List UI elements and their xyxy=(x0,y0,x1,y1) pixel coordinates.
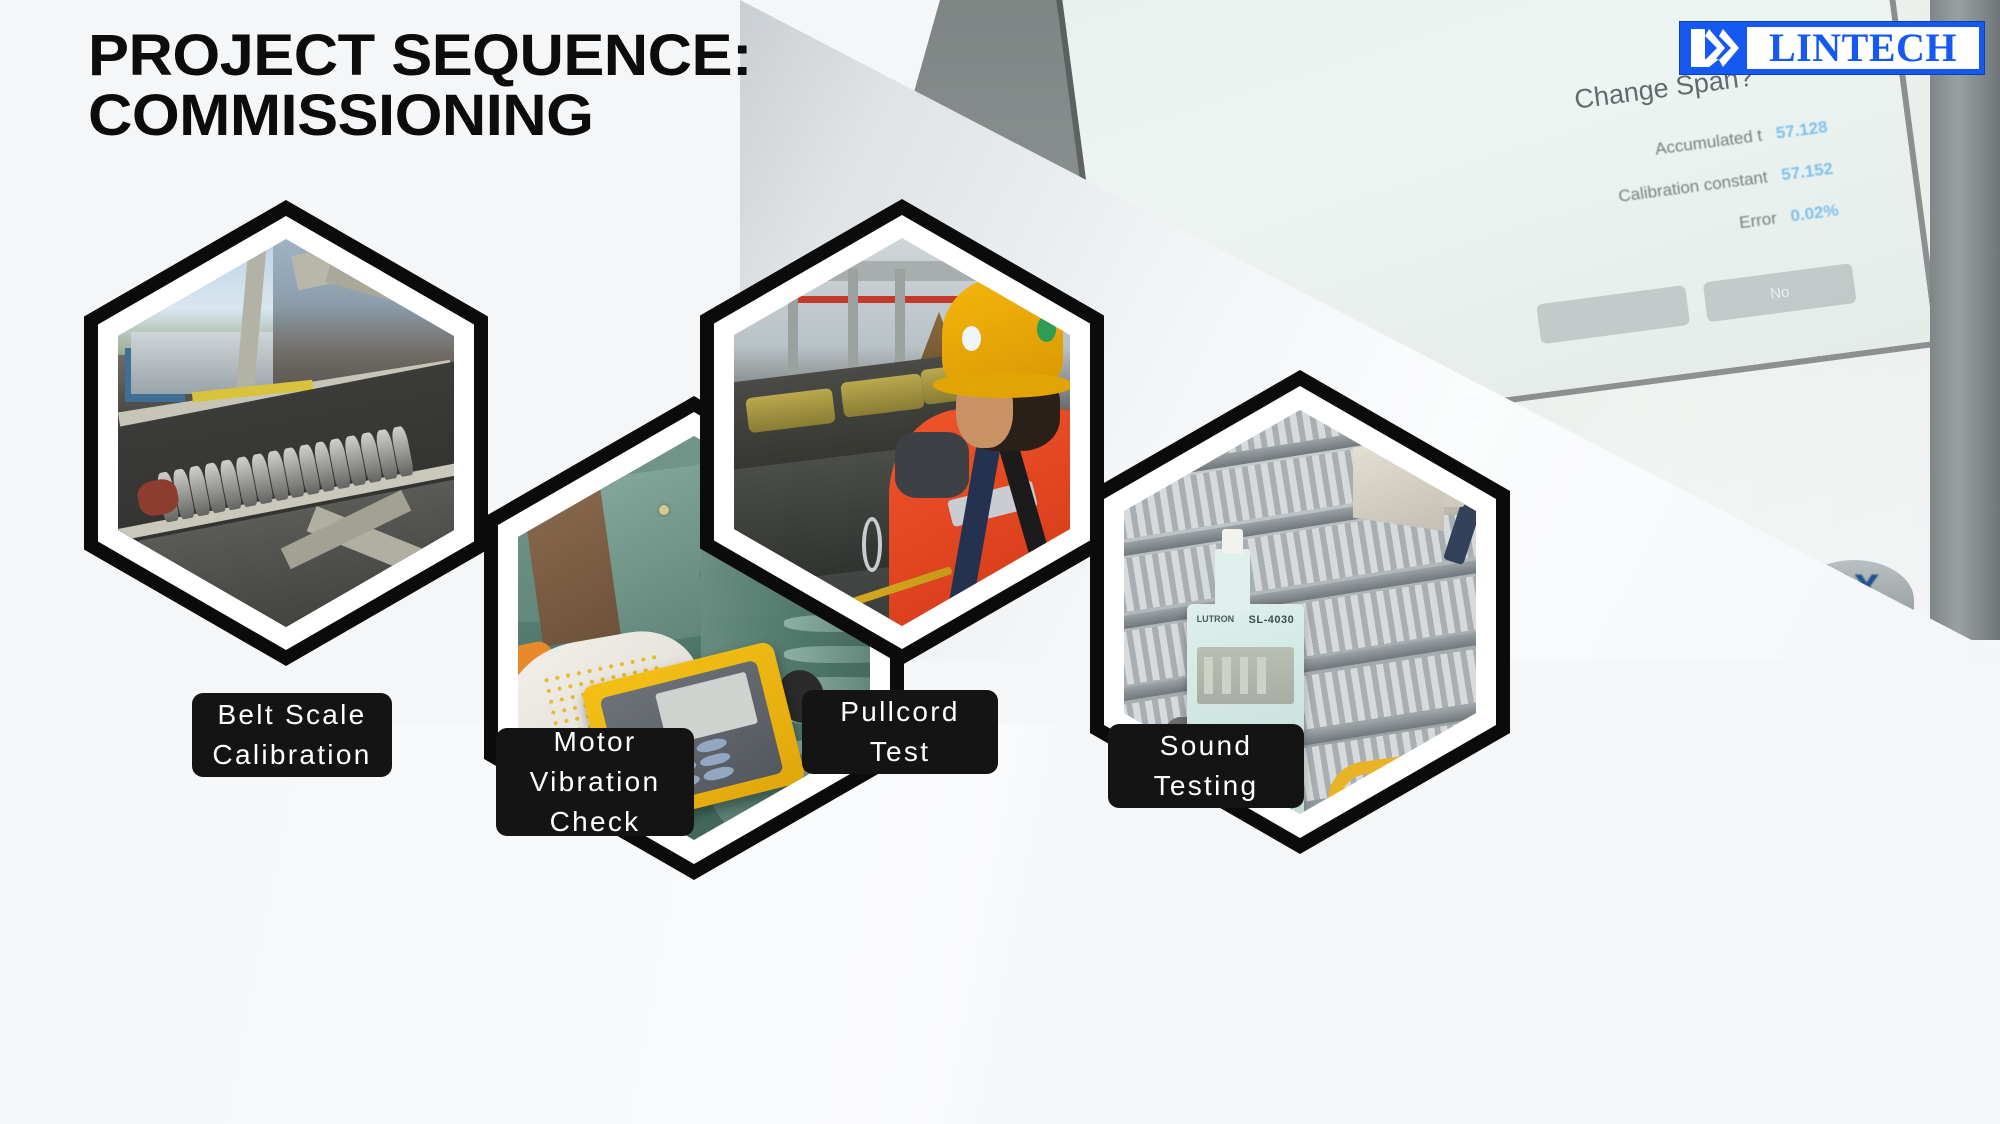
hmi-no-button: No xyxy=(1703,263,1857,322)
meter-lcd xyxy=(1197,647,1295,705)
hmi-value-calibration-constant: 57.152 xyxy=(1780,159,1834,185)
hmi-value-error: 0.02% xyxy=(1789,200,1839,225)
step-caption-belt-scale-calibration[interactable]: Belt Scale Calibration xyxy=(192,693,392,777)
hmi-yes-button xyxy=(1536,285,1690,344)
background-post xyxy=(1930,0,2000,640)
page-title: PROJECT SEQUENCE: COMMISSIONING xyxy=(88,26,894,145)
step-caption-pullcord-test[interactable]: Pullcord Test xyxy=(802,690,998,774)
lintech-logo[interactable]: LINTECH xyxy=(1680,22,1984,74)
hmi-label-error: Error xyxy=(1738,209,1778,233)
meter-brand-label: LUTRON xyxy=(1197,614,1235,624)
hmi-label-calibration-constant: Calibration constant xyxy=(1617,167,1768,205)
background-seam xyxy=(0,724,2000,1124)
step-caption-text: Sound Testing xyxy=(1126,726,1286,806)
hmi-value-accumulated: 57.128 xyxy=(1775,117,1829,143)
slide-canvas: Auto Span Complete Roller chain Change S… xyxy=(0,0,2000,1124)
step-caption-text: Belt Scale Calibration xyxy=(210,695,374,775)
meter-model-label: SL-4030 xyxy=(1249,614,1295,626)
step-hexagon-belt-scale-calibration[interactable] xyxy=(84,200,488,666)
step-caption-text: Pullcord Test xyxy=(820,692,980,772)
hmi-label-accumulated: Accumulated t xyxy=(1654,126,1763,159)
hmi-button-row: No xyxy=(1536,263,1857,344)
page-title-line2: COMMISSIONING xyxy=(88,86,894,146)
page-title-line1: PROJECT SEQUENCE: xyxy=(88,23,752,88)
step-caption-motor-vibration-check[interactable]: Motor Vibration Check xyxy=(496,728,694,836)
lintech-chevron-mark-icon xyxy=(1685,27,1747,69)
step-caption-sound-testing[interactable]: Sound Testing xyxy=(1108,724,1304,808)
step-caption-text: Motor Vibration Check xyxy=(514,722,676,841)
lintech-wordmark: LINTECH xyxy=(1747,27,1979,69)
